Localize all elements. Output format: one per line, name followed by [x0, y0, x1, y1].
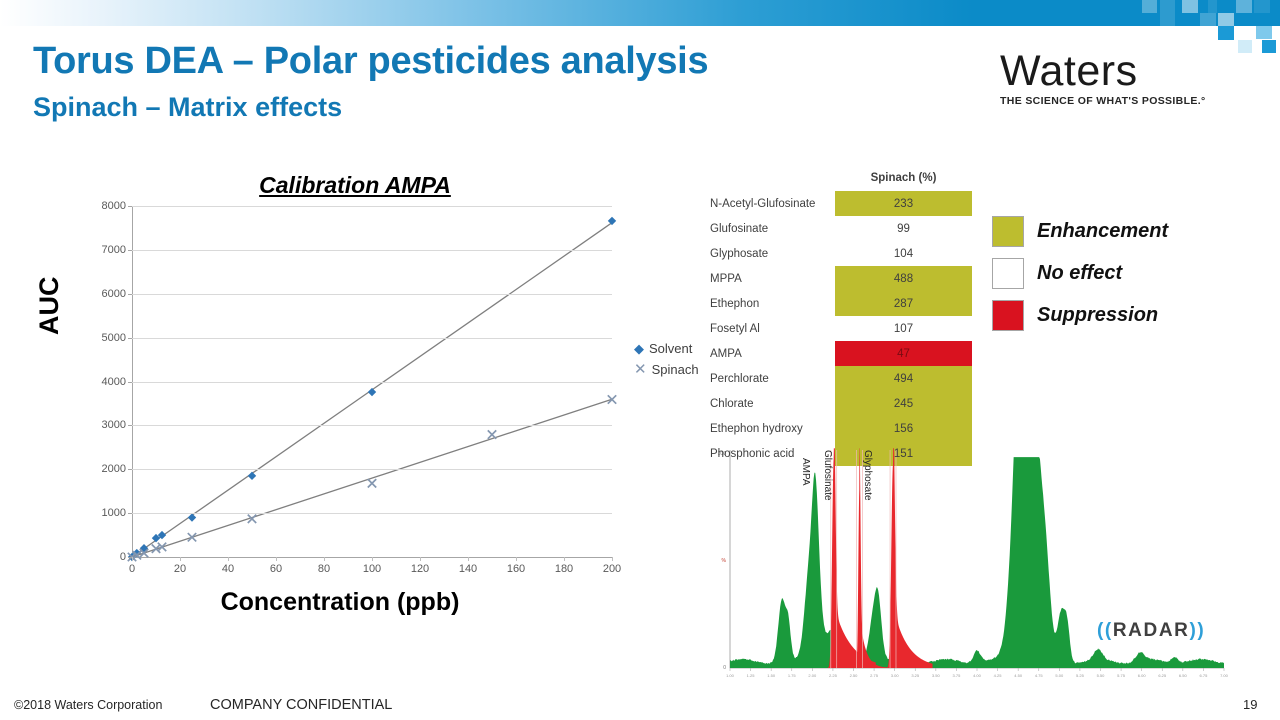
y-axis-tick-label: 1000	[102, 507, 126, 519]
y-axis-tick-label: 6000	[102, 288, 126, 300]
table-row: AMPA47	[710, 341, 972, 366]
chromatogram-x-tick-label: 4.50	[1014, 673, 1023, 678]
x-axis-tick-mark	[564, 557, 565, 561]
x-axis-tick-label: 200	[603, 563, 621, 575]
logo-tagline: THE SCIENCE OF WHAT'S POSSIBLE.°	[1000, 95, 1260, 107]
calibration-chart: Calibration AMPA AUC Concentration (ppb)…	[20, 160, 680, 620]
y-axis-tick-label: 7000	[102, 244, 126, 256]
data-point-marker	[158, 543, 166, 551]
x-axis-tick-label: 100	[363, 563, 381, 575]
chromatogram-y-tick-label: %	[722, 558, 727, 564]
peak-label-ampa: AMPA	[800, 458, 811, 486]
y-axis-tick-label: 4000	[102, 376, 126, 388]
chromatogram-x-tick-label: 2.00	[808, 673, 817, 678]
table-row-analyte-label: MPPA	[710, 273, 835, 285]
chromatogram-x-tick-label: 5.50	[1097, 673, 1106, 678]
chart-plot-area: 0100020003000400050006000700080000204060…	[132, 206, 612, 557]
table-row: Chlorate245	[710, 391, 972, 416]
chromatogram-x-tick-label: 2.25	[829, 673, 838, 678]
table-row-analyte-label: Ethephon hydroxy	[710, 423, 835, 435]
chromatogram-x-tick-label: 3.75	[953, 673, 962, 678]
effect-legend-item: Suppression	[992, 294, 1168, 336]
chart-gridline	[132, 513, 612, 514]
chromatogram-x-tick-label: 1.50	[767, 673, 776, 678]
data-point-marker	[608, 395, 616, 403]
data-point-marker	[608, 217, 616, 225]
chromatogram-x-tick-label: 1.00	[726, 673, 735, 678]
chromatogram-x-tick-label: 2.50	[850, 673, 859, 678]
footer-confidential-notice: COMPANY CONFIDENTIAL	[210, 697, 392, 713]
table-body: N-Acetyl-Glufosinate233Glufosinate99Glyp…	[710, 191, 972, 466]
radar-arc-left-icon: ((	[1097, 620, 1113, 641]
chromatogram-x-tick-label: 4.75	[1035, 673, 1044, 678]
chromatogram: 100%01.001.251.501.752.002.252.502.753.0…	[712, 440, 1240, 690]
chromatogram-x-tick-label: 4.25	[994, 673, 1003, 678]
data-point-marker	[368, 479, 376, 487]
x-axis-tick-mark	[180, 557, 181, 561]
table-row-value: 156	[835, 423, 972, 435]
x-axis-label: Concentration (ppb)	[130, 588, 550, 617]
table-row-value: 151	[835, 448, 972, 460]
effect-legend-swatch	[992, 258, 1024, 289]
chromatogram-x-tick-label: 7.00	[1220, 673, 1229, 678]
table-row-value: 245	[835, 398, 972, 410]
chromatogram-x-tick-label: 4.00	[973, 673, 982, 678]
table-row-value: 104	[835, 248, 972, 260]
effect-legend: EnhancementNo effectSuppression	[992, 210, 1168, 336]
y-axis-tick-label: 8000	[102, 200, 126, 212]
waters-logo: Waters THE SCIENCE OF WHAT'S POSSIBLE.°	[1000, 48, 1260, 107]
chromatogram-x-tick-label: 1.75	[788, 673, 797, 678]
table-row: N-Acetyl-Glufosinate233	[710, 191, 972, 216]
chromatogram-x-tick-label: 6.75	[1200, 673, 1209, 678]
chart-gridline	[132, 338, 612, 339]
x-axis-tick-mark	[468, 557, 469, 561]
effect-legend-label: Suppression	[1037, 304, 1158, 327]
table-row-analyte-label: Chlorate	[710, 398, 835, 410]
table-row: MPPA488	[710, 266, 972, 291]
data-point-marker	[368, 388, 376, 396]
table-row-analyte-label: Phosphonic acid	[710, 448, 835, 460]
data-point-marker	[188, 533, 196, 541]
effect-legend-item: No effect	[992, 252, 1168, 294]
chromatogram-y-tick-label: 0	[723, 665, 726, 671]
effect-legend-item: Enhancement	[992, 210, 1168, 252]
chromatogram-x-tick-label: 3.50	[932, 673, 941, 678]
diamond-marker-icon: ◆	[634, 342, 644, 355]
x-axis-tick-label: 120	[411, 563, 429, 575]
x-axis-tick-mark	[132, 557, 133, 561]
table-row: Ethephon287	[710, 291, 972, 316]
chromatogram-trace: 100%01.001.251.501.752.002.252.502.753.0…	[712, 440, 1240, 690]
radar-label: RADAR	[1113, 620, 1190, 641]
x-axis-tick-mark	[612, 557, 613, 561]
table-row-value: 287	[835, 298, 972, 310]
mosaic-square	[1218, 26, 1234, 40]
y-axis-label: AUC	[34, 277, 65, 336]
data-point-marker	[188, 513, 196, 521]
legend-item-spinach: ✕ Spinach	[634, 359, 699, 380]
effect-legend-swatch	[992, 216, 1024, 247]
y-axis-tick-label: 5000	[102, 332, 126, 344]
table-row-analyte-label: Fosetyl Al	[710, 323, 835, 335]
chromatogram-x-tick-label: 6.50	[1179, 673, 1188, 678]
chart-gridline	[132, 469, 612, 470]
page-title: Torus DEA – Polar pesticides analysis	[33, 40, 708, 83]
table-row-value: 99	[835, 223, 972, 235]
table-row-value: 488	[835, 273, 972, 285]
y-axis-tick-mark	[128, 294, 132, 295]
chromatogram-x-tick-label: 3.25	[911, 673, 920, 678]
effect-legend-swatch	[992, 300, 1024, 331]
y-axis-tick-label: 3000	[102, 419, 126, 431]
x-axis-tick-label: 140	[459, 563, 477, 575]
trendline	[132, 399, 612, 557]
y-axis-tick-mark	[128, 250, 132, 251]
x-axis-tick-label: 80	[318, 563, 330, 575]
table-column-header: Spinach (%)	[835, 172, 972, 184]
x-axis-tick-label: 160	[507, 563, 525, 575]
y-axis-tick-mark	[128, 338, 132, 339]
y-axis-tick-mark	[128, 469, 132, 470]
x-axis-tick-label: 40	[222, 563, 234, 575]
matrix-effects-table: Spinach (%) N-Acetyl-Glufosinate233Glufo…	[710, 172, 972, 466]
chart-legend: ◆ Solvent ✕ Spinach	[634, 338, 699, 380]
chromatogram-x-tick-label: 6.00	[1138, 673, 1147, 678]
x-axis-tick-label: 180	[555, 563, 573, 575]
chromatogram-x-tick-label: 6.25	[1158, 673, 1167, 678]
table-row-analyte-label: Glyphosate	[710, 248, 835, 260]
table-row-value: 494	[835, 373, 972, 385]
chart-gridline	[132, 425, 612, 426]
chart-gridline	[132, 250, 612, 251]
top-banner	[0, 0, 1280, 26]
y-axis-tick-mark	[128, 206, 132, 207]
table-row: Glufosinate99	[710, 216, 972, 241]
chart-gridline	[132, 382, 612, 383]
effect-legend-label: Enhancement	[1037, 220, 1168, 243]
chart-gridline	[132, 294, 612, 295]
data-point-marker	[248, 472, 256, 480]
table-row-analyte-label: Perchlorate	[710, 373, 835, 385]
table-row-analyte-label: Glufosinate	[710, 223, 835, 235]
chromatogram-x-tick-label: 5.75	[1117, 673, 1126, 678]
chromatogram-x-tick-label: 3.00	[891, 673, 900, 678]
table-row: Ethephon hydroxy156	[710, 416, 972, 441]
chart-gridline	[132, 206, 612, 207]
y-axis-tick-mark	[128, 513, 132, 514]
page-number: 19	[1243, 697, 1257, 712]
chromatogram-x-tick-label: 5.00	[1055, 673, 1064, 678]
chromatogram-x-tick-label: 5.25	[1076, 673, 1085, 678]
y-axis-tick-mark	[128, 382, 132, 383]
mosaic-square	[1262, 40, 1276, 53]
footer-copyright: ©2018 Waters Corporation	[14, 698, 162, 712]
effect-legend-label: No effect	[1037, 262, 1122, 285]
x-axis-tick-label: 20	[174, 563, 186, 575]
table-row-value: 107	[835, 323, 972, 335]
radar-arc-right-icon: ))	[1189, 620, 1205, 641]
x-axis-tick-mark	[228, 557, 229, 561]
table-row: Fosetyl Al107	[710, 316, 972, 341]
table-row-analyte-label: N-Acetyl-Glufosinate	[710, 198, 835, 210]
legend-label-solvent: Solvent	[649, 341, 692, 356]
chart-title: Calibration AMPA	[225, 172, 485, 199]
table-row-value: 47	[835, 348, 972, 360]
y-axis-tick-label: 0	[120, 551, 126, 563]
x-axis-tick-mark	[372, 557, 373, 561]
table-row: Perchlorate494	[710, 366, 972, 391]
table-row-analyte-label: Ethephon	[710, 298, 835, 310]
table-row-value: 233	[835, 198, 972, 210]
x-axis-tick-mark	[276, 557, 277, 561]
table-row: Glyphosate104	[710, 241, 972, 266]
y-axis-tick-mark	[128, 425, 132, 426]
x-axis-tick-label: 60	[270, 563, 282, 575]
logo-wordmark: Waters	[1000, 48, 1260, 94]
x-axis-tick-label: 0	[129, 563, 135, 575]
chromatogram-x-tick-label: 1.25	[747, 673, 756, 678]
radar-watermark: ((RADAR))	[1097, 620, 1205, 642]
cross-marker-icon: ✕	[634, 362, 647, 377]
mosaic-square	[1256, 26, 1272, 39]
x-axis-tick-mark	[420, 557, 421, 561]
x-axis-tick-mark	[516, 557, 517, 561]
page-subtitle: Spinach – Matrix effects	[33, 92, 342, 123]
x-axis-tick-mark	[324, 557, 325, 561]
table-row-analyte-label: AMPA	[710, 348, 835, 360]
legend-label-spinach: Spinach	[652, 362, 699, 377]
chromatogram-x-tick-label: 2.75	[870, 673, 879, 678]
data-point-marker	[488, 430, 496, 438]
y-axis-tick-label: 2000	[102, 463, 126, 475]
legend-item-solvent: ◆ Solvent	[634, 338, 699, 359]
